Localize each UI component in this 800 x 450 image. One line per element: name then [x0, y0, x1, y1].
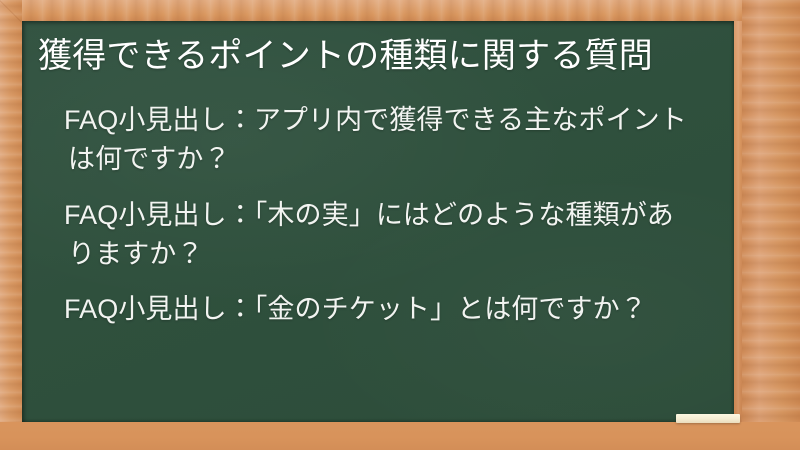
faq-list-item: FAQ小見出し：アプリ内で獲得できる主なポイントは何ですか？: [68, 101, 692, 179]
chalkboard-content: 獲得できるポイントの種類に関する質問 FAQ小見出し：アプリ内で獲得できる主なポ…: [22, 21, 734, 422]
page-title: 獲得できるポイントの種類に関する質問: [30, 33, 710, 79]
chalkboard-slide: 獲得できるポイントの種類に関する質問 FAQ小見出し：アプリ内で獲得できる主なポ…: [0, 0, 800, 450]
frame-stile-right: [742, 0, 800, 450]
faq-list-item: FAQ小見出し：「木の実」にはどのような種類がありますか？: [68, 196, 692, 274]
frame-stile-left: [0, 0, 22, 450]
frame-ledge-bottom: [0, 422, 800, 450]
chalkboard-surface: 獲得できるポイントの種類に関する質問 FAQ小見出し：アプリ内で獲得できる主なポ…: [22, 21, 734, 422]
faq-list: FAQ小見出し：アプリ内で獲得できる主なポイントは何ですか？ FAQ小見出し：「…: [30, 101, 710, 329]
frame-rail-top: [0, 0, 800, 21]
chalk-stick-icon: [676, 414, 740, 423]
faq-list-item: FAQ小見出し：「金のチケット」とは何ですか？: [68, 290, 692, 329]
